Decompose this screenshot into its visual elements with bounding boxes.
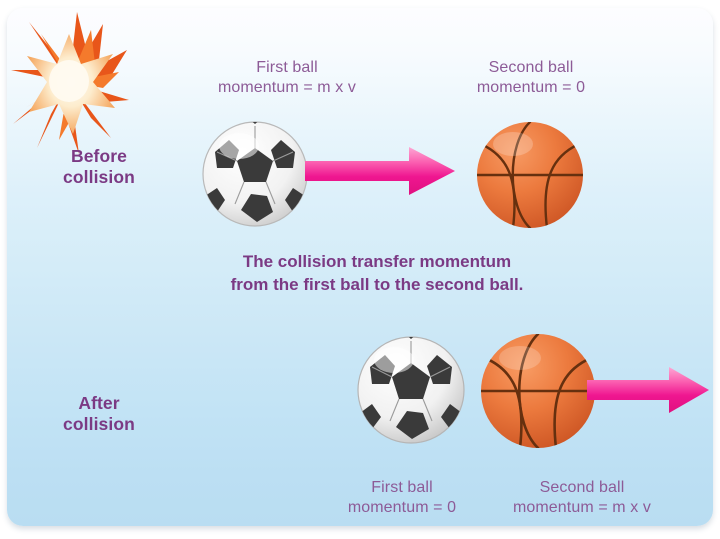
collision-explanation-note: The collision transfer momentum from the… bbox=[167, 251, 587, 297]
collision-note-line1: The collision transfer momentum bbox=[167, 251, 587, 274]
after-second-ball-momentum: momentum = m x v bbox=[477, 498, 687, 518]
basketball-icon-after bbox=[477, 330, 599, 452]
before-collision-label-line1: Before bbox=[29, 146, 169, 167]
momentum-collision-diagram: Before collision First ball momentum = m… bbox=[0, 0, 720, 539]
before-collision-stage-label: Before collision bbox=[29, 146, 169, 189]
before-first-ball-label: First ball momentum = m x v bbox=[187, 58, 387, 97]
after-collision-label-line2: collision bbox=[29, 414, 169, 435]
after-first-ball-name: First ball bbox=[307, 478, 497, 498]
after-momentum-arrow-icon bbox=[587, 365, 711, 415]
basketball-icon bbox=[473, 118, 587, 232]
collision-note-line2: from the first ball to the second ball. bbox=[167, 274, 587, 297]
after-collision-label-line1: After bbox=[29, 393, 169, 414]
diagram-panel: Before collision First ball momentum = m… bbox=[7, 8, 713, 526]
before-second-ball-momentum: momentum = 0 bbox=[435, 78, 627, 98]
before-second-ball-name: Second ball bbox=[435, 58, 627, 78]
after-collision-stage-label: After collision bbox=[29, 393, 169, 436]
before-momentum-arrow-icon bbox=[305, 144, 457, 198]
after-first-ball-label: First ball momentum = 0 bbox=[307, 478, 497, 517]
soccer-ball-icon bbox=[199, 118, 311, 230]
before-collision-label-line2: collision bbox=[29, 167, 169, 188]
after-first-ball-momentum: momentum = 0 bbox=[307, 498, 497, 518]
after-second-ball-label: Second ball momentum = m x v bbox=[477, 478, 687, 517]
soccer-ball-icon-after bbox=[354, 333, 468, 447]
collision-burst-icon bbox=[7, 8, 135, 156]
before-second-ball-label: Second ball momentum = 0 bbox=[435, 58, 627, 97]
before-first-ball-name: First ball bbox=[187, 58, 387, 78]
after-second-ball-name: Second ball bbox=[477, 478, 687, 498]
before-first-ball-momentum: momentum = m x v bbox=[187, 78, 387, 98]
